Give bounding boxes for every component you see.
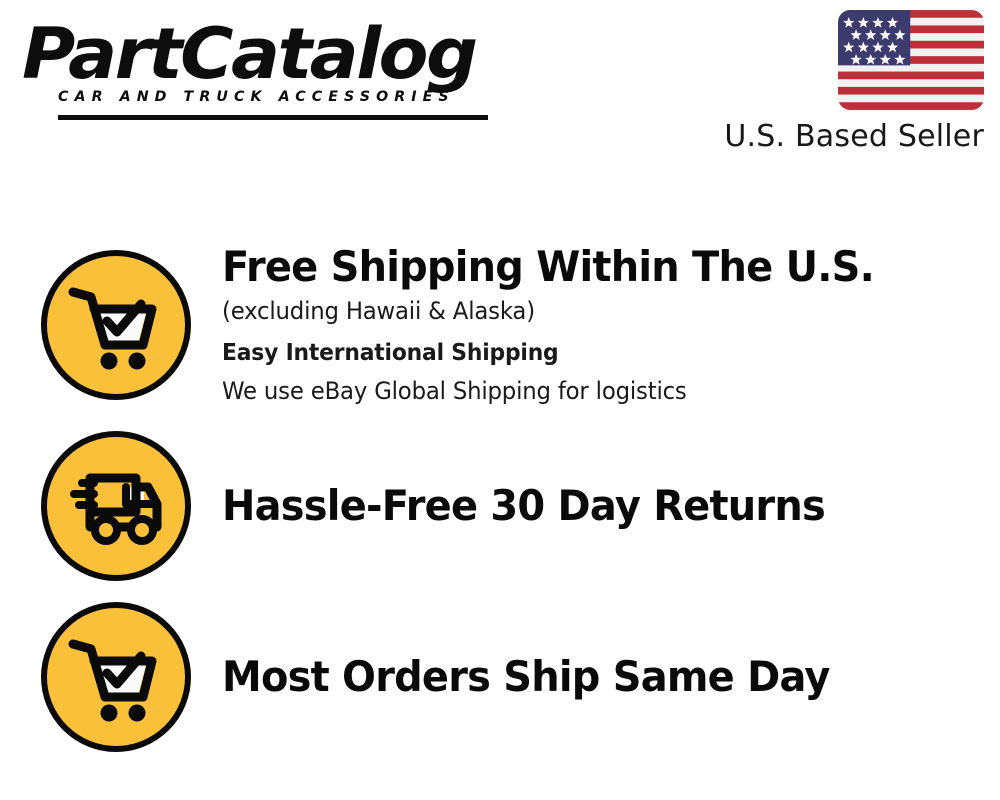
feature-text-block: Most Orders Ship Same Day bbox=[222, 652, 1000, 702]
feature-row: Free Shipping Within The U.S. (excluding… bbox=[0, 230, 1000, 420]
feature-title: Free Shipping Within The U.S. bbox=[222, 242, 942, 292]
us-based-seller-badge: U.S. Based Seller bbox=[704, 10, 984, 155]
feature-title: Most Orders Ship Same Day bbox=[222, 652, 942, 702]
feature-row: Hassle-Free 30 Day Returns bbox=[0, 420, 1000, 592]
feature-note: (excluding Hawaii & Alaska) bbox=[222, 294, 942, 328]
brand-wordmark: PartCatalog bbox=[22, 18, 511, 90]
feature-list: Free Shipping Within The U.S. (excluding… bbox=[0, 230, 1000, 762]
promo-banner: PartCatalog CAR AND TRUCK ACCESSORIES bbox=[0, 0, 1000, 800]
shopping-cart-check-icon bbox=[41, 250, 191, 400]
shopping-cart-check-icon bbox=[41, 602, 191, 752]
brand-underline-rule bbox=[58, 115, 488, 120]
brand-tagline: CAR AND TRUCK ACCESSORIES bbox=[58, 89, 483, 105]
us-based-seller-label: U.S. Based Seller bbox=[704, 119, 984, 155]
feature-title: Hassle-Free 30 Day Returns bbox=[222, 481, 942, 531]
feature-text-block: Hassle-Free 30 Day Returns bbox=[222, 481, 1000, 531]
feature-row: Most Orders Ship Same Day bbox=[0, 592, 1000, 762]
feature-subtitle: Easy International Shipping bbox=[222, 336, 942, 370]
feature-detail: We use eBay Global Shipping for logistic… bbox=[222, 374, 942, 408]
us-flag-icon bbox=[838, 10, 984, 110]
feature-text-block: Free Shipping Within The U.S. (excluding… bbox=[222, 242, 1000, 408]
brand-logo: PartCatalog CAR AND TRUCK ACCESSORIES bbox=[22, 18, 492, 118]
delivery-truck-icon bbox=[41, 431, 191, 581]
